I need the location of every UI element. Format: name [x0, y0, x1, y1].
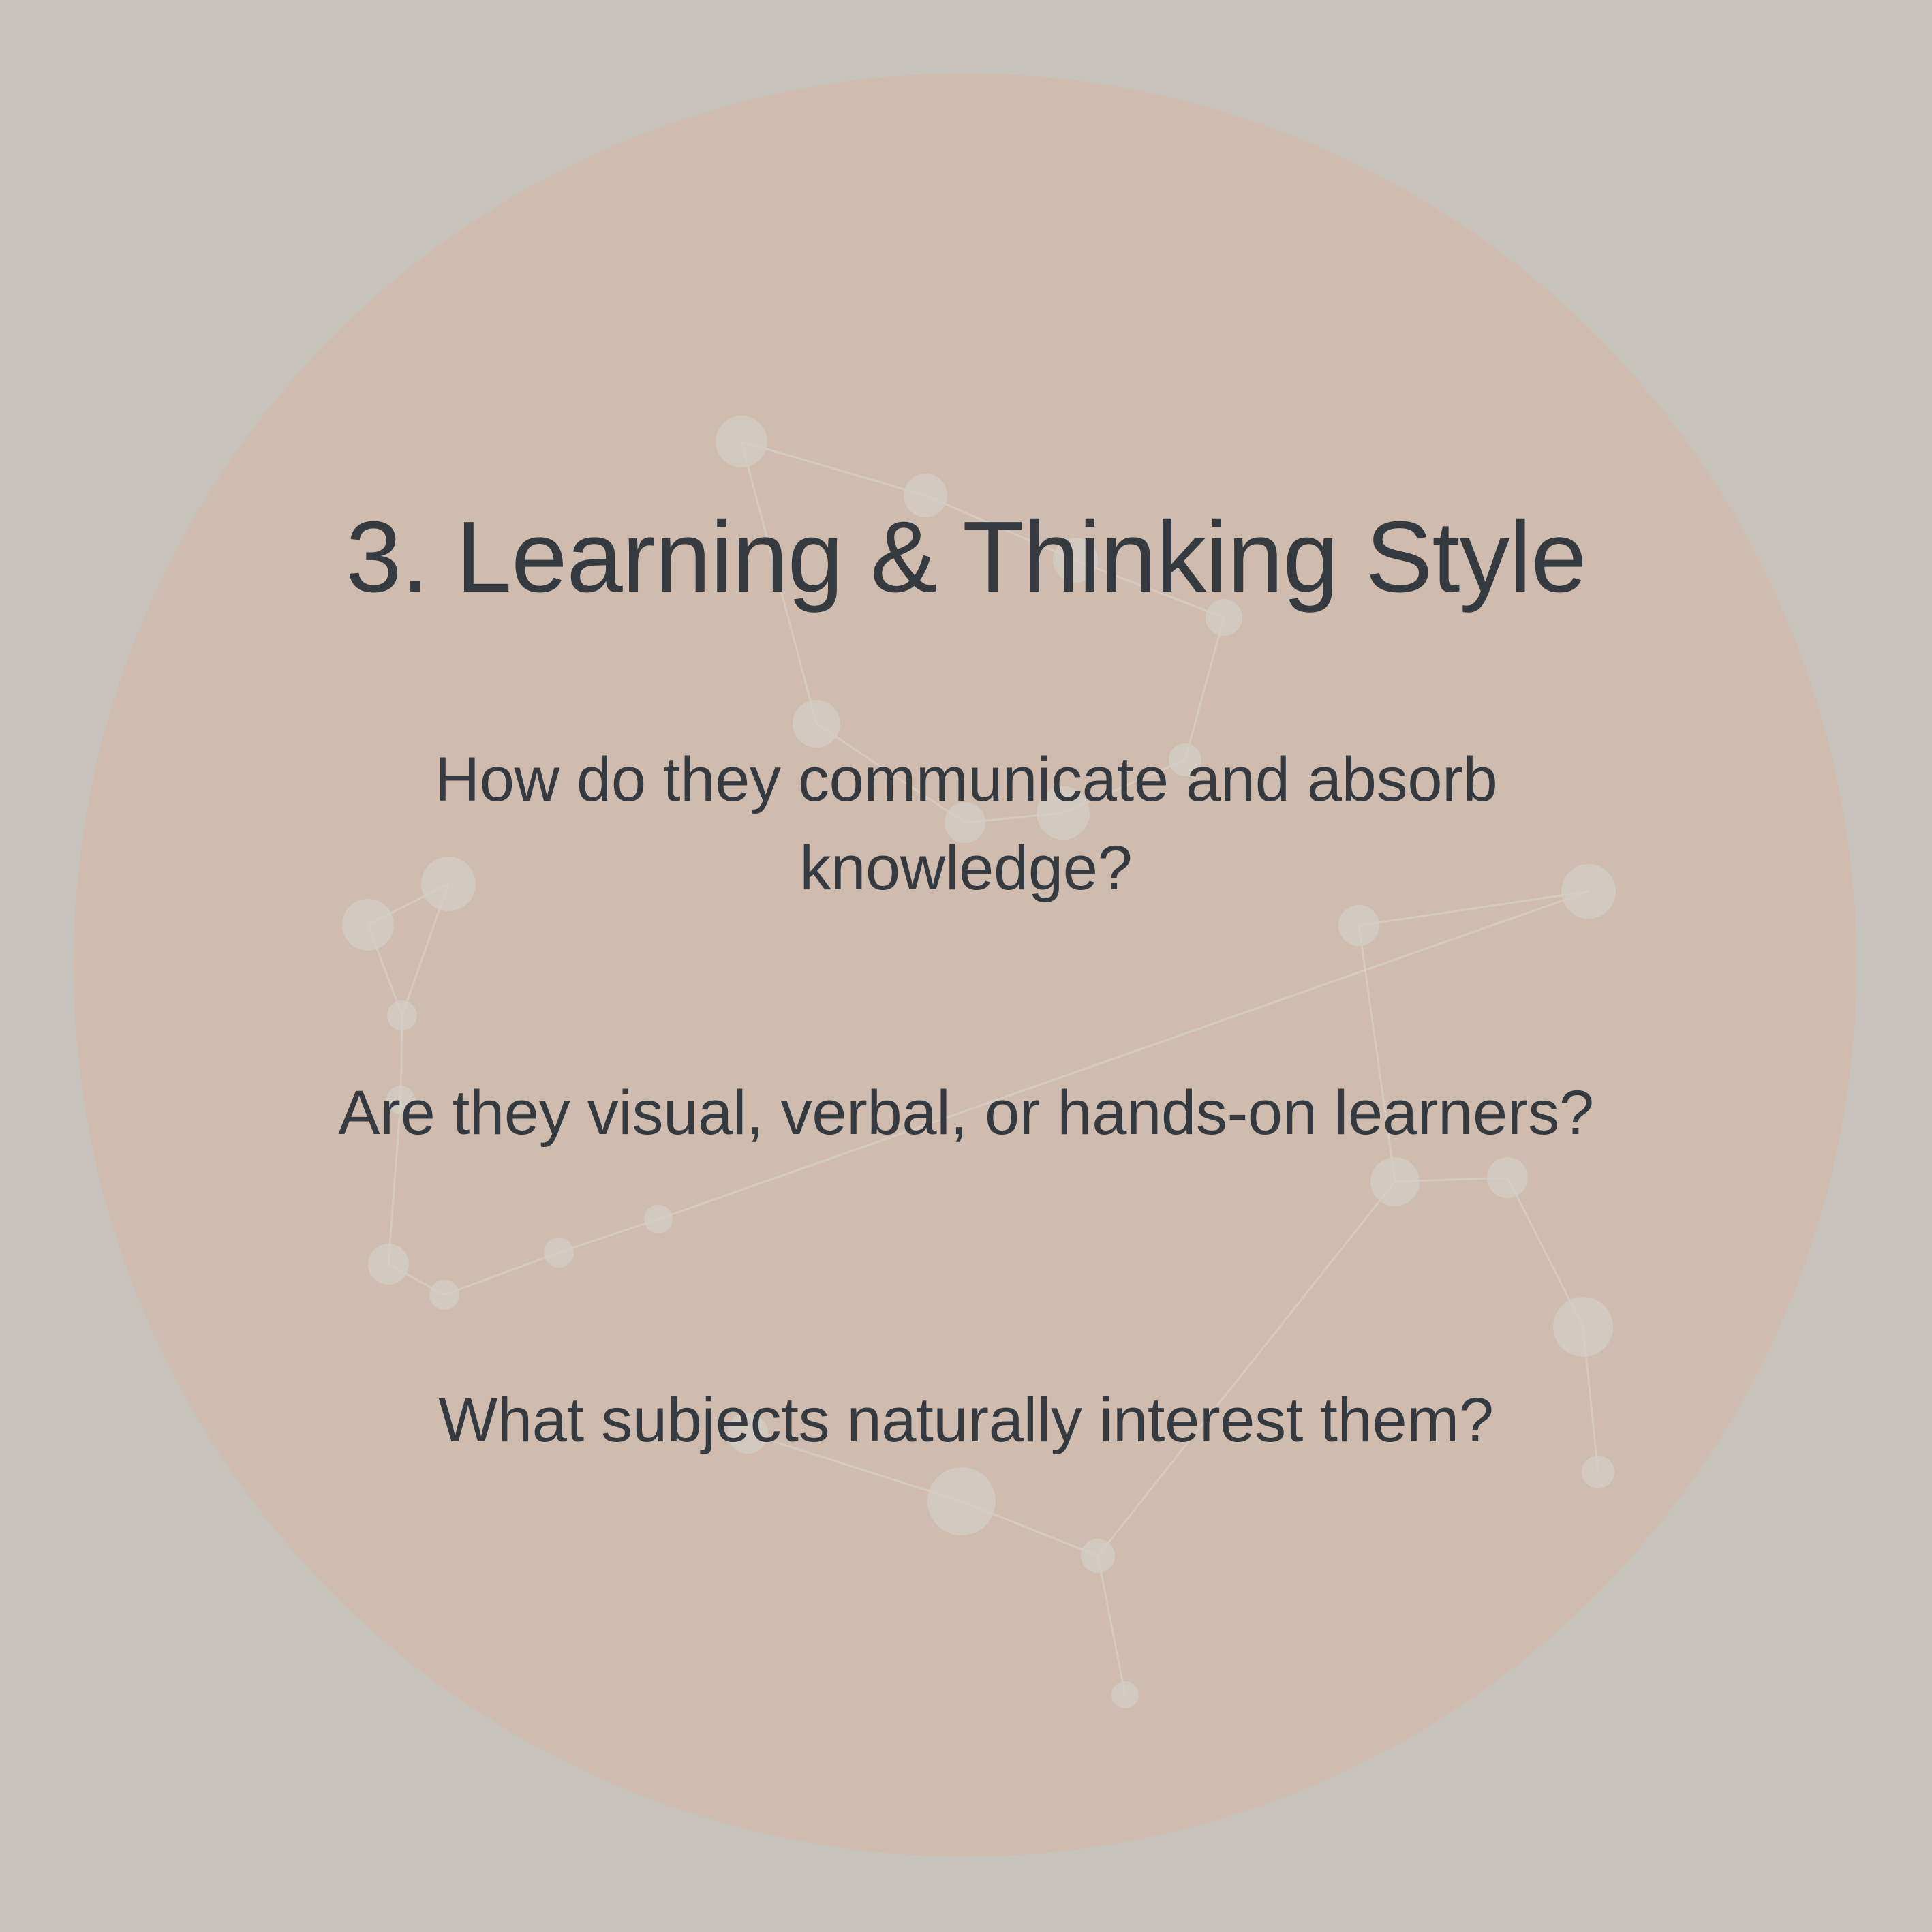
question-list: How do they communicate and absorb knowl…: [298, 673, 1634, 1528]
question-item-3: What subjects naturally interest them?: [298, 1376, 1634, 1465]
slide-content: 3. Learning & Thinking Style How do they…: [0, 0, 1932, 1932]
question-spacer-1: [298, 913, 1634, 1006]
page-title: 3. Learning & Thinking Style: [217, 501, 1716, 614]
question-item-1: How do they communicate and absorb knowl…: [367, 735, 1566, 913]
question-spacer-2: [298, 1221, 1634, 1313]
slide-canvas: 3. Learning & Thinking Style How do they…: [0, 0, 1932, 1932]
question-item-2: Are they visual, verbal, or hands-on lea…: [298, 1069, 1634, 1158]
